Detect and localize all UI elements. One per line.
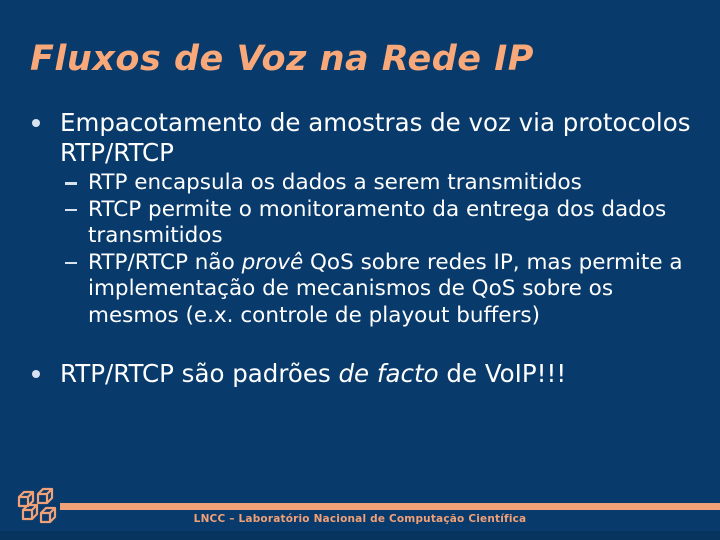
bullet-item-2-text-after: de VoIP!!! — [439, 359, 567, 388]
sub-bullet-list: RTP encapsula os dados a serem transmiti… — [24, 170, 696, 329]
body-spacer — [24, 329, 696, 359]
bullet-dot-icon — [32, 370, 40, 378]
bullet-dash-icon — [65, 209, 77, 212]
bullet-item-2: RTP/RTCP são padrões de facto de VoIP!!! — [24, 359, 696, 389]
sub-bullet-item-3-text-before: RTP/RTCP não — [88, 250, 242, 275]
sub-bullet-item-1-label: RTP encapsula os dados a serem transmiti… — [88, 170, 696, 197]
bullet-dash-icon — [65, 262, 77, 265]
presentation-slide: Fluxos de Voz na Rede IP Empacotamento d… — [0, 0, 720, 540]
footer-institution-label: LNCC – Laboratório Nacional de Computaçã… — [0, 513, 720, 525]
sub-bullet-item-2-label: RTCP permite o monitoramento da entrega … — [88, 197, 696, 250]
bullet-item-2-label: RTP/RTCP são padrões de facto de VoIP!!! — [60, 359, 696, 389]
slide-body: Empacotamento de amostras de voz via pro… — [24, 108, 696, 391]
page-title: Fluxos de Voz na Rede IP — [30, 40, 690, 79]
footer-accent-bar — [60, 503, 720, 510]
sub-bullet-item-2: RTCP permite o monitoramento da entrega … — [64, 197, 696, 250]
bullet-item-2-text-before: RTP/RTCP são padrões — [60, 359, 339, 388]
bullet-item-1: Empacotamento de amostras de voz via pro… — [24, 108, 696, 168]
bullet-item-2-emphasis: de facto — [339, 359, 439, 388]
bullet-dot-icon — [32, 119, 40, 127]
bullet-item-1-label: Empacotamento de amostras de voz via pro… — [60, 108, 696, 168]
sub-bullet-item-1: RTP encapsula os dados a serem transmiti… — [64, 170, 696, 197]
slide-bottom-band — [0, 531, 720, 540]
sub-bullet-item-3-label: RTP/RTCP não provê QoS sobre redes IP, m… — [88, 250, 696, 330]
bullet-dash-icon — [65, 182, 77, 185]
sub-bullet-item-3-emphasis: provê — [242, 250, 304, 275]
sub-bullet-item-3: RTP/RTCP não provê QoS sobre redes IP, m… — [64, 250, 696, 330]
lncc-cubes-logo-icon — [14, 482, 62, 530]
